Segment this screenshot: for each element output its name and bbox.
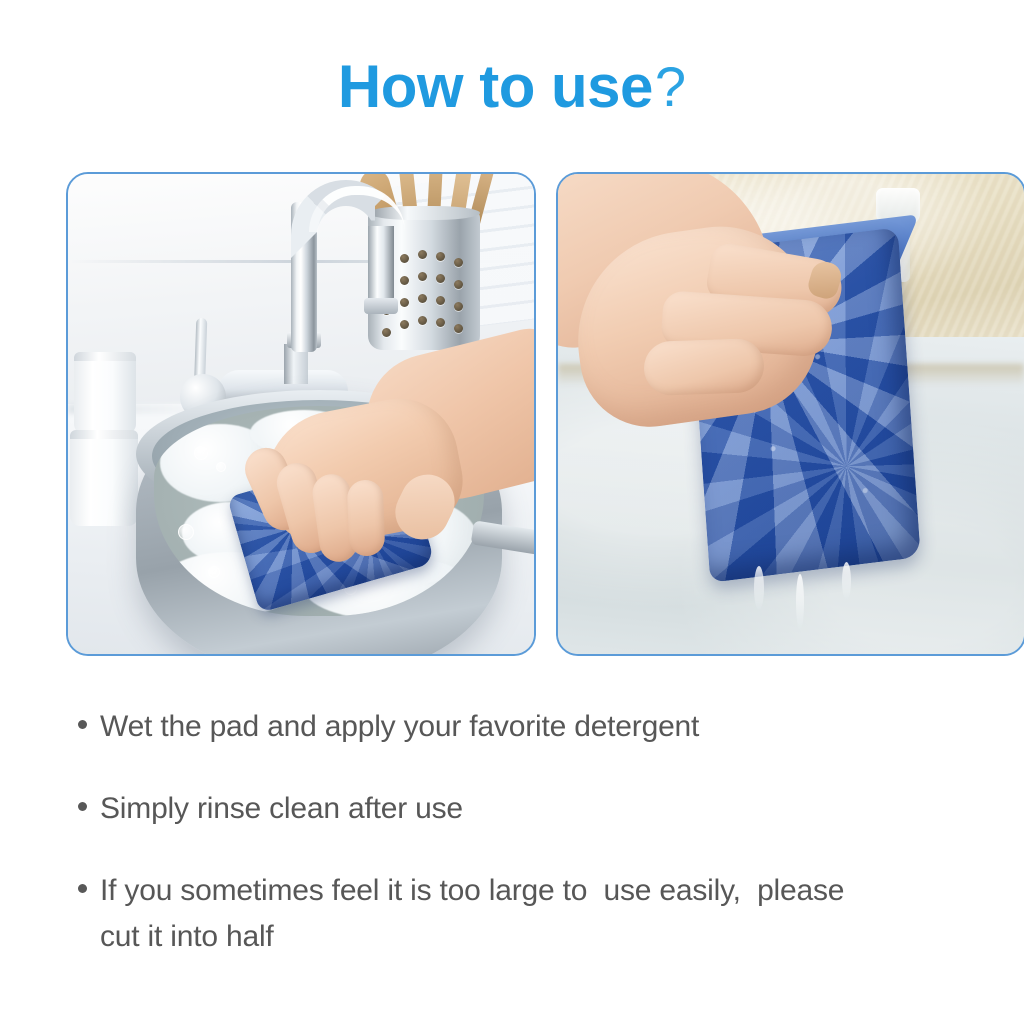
kitchen-sink-scene bbox=[68, 174, 534, 654]
bullet-point-icon bbox=[78, 802, 87, 811]
ceramic-cup bbox=[70, 430, 138, 526]
instruction-text: If you sometimes feel it is too large to… bbox=[100, 868, 844, 960]
rinsing-pad-photo bbox=[556, 172, 1024, 656]
page-title-text: How to use bbox=[338, 53, 653, 120]
list-item: If you sometimes feel it is too large to… bbox=[78, 868, 978, 960]
water-drip bbox=[842, 562, 851, 600]
water-drip bbox=[796, 574, 804, 630]
finger bbox=[643, 338, 765, 396]
washing-pot-photo bbox=[66, 172, 536, 656]
faucet-downspout bbox=[368, 226, 394, 304]
ceramic-cup bbox=[74, 352, 136, 434]
instruction-text: Wet the pad and apply your favorite dete… bbox=[100, 704, 699, 750]
finger bbox=[347, 479, 386, 556]
question-mark-glyph: ? bbox=[655, 55, 686, 118]
infographic-page: How to use? bbox=[0, 0, 1024, 1024]
instruction-text: Simply rinse clean after use bbox=[100, 786, 463, 832]
page-title: How to use? bbox=[0, 52, 1024, 121]
instruction-list: Wet the pad and apply your favorite dete… bbox=[78, 704, 978, 996]
sink-rinse-scene bbox=[558, 174, 1024, 654]
cup-rim bbox=[70, 430, 138, 439]
faucet-nozzle bbox=[364, 298, 398, 314]
bullet-point-icon bbox=[78, 884, 87, 893]
list-item: Wet the pad and apply your favorite dete… bbox=[78, 704, 978, 750]
cup-rim bbox=[74, 352, 136, 361]
list-item: Simply rinse clean after use bbox=[78, 786, 978, 832]
water-drip bbox=[754, 566, 764, 610]
bullet-point-icon bbox=[78, 720, 87, 729]
